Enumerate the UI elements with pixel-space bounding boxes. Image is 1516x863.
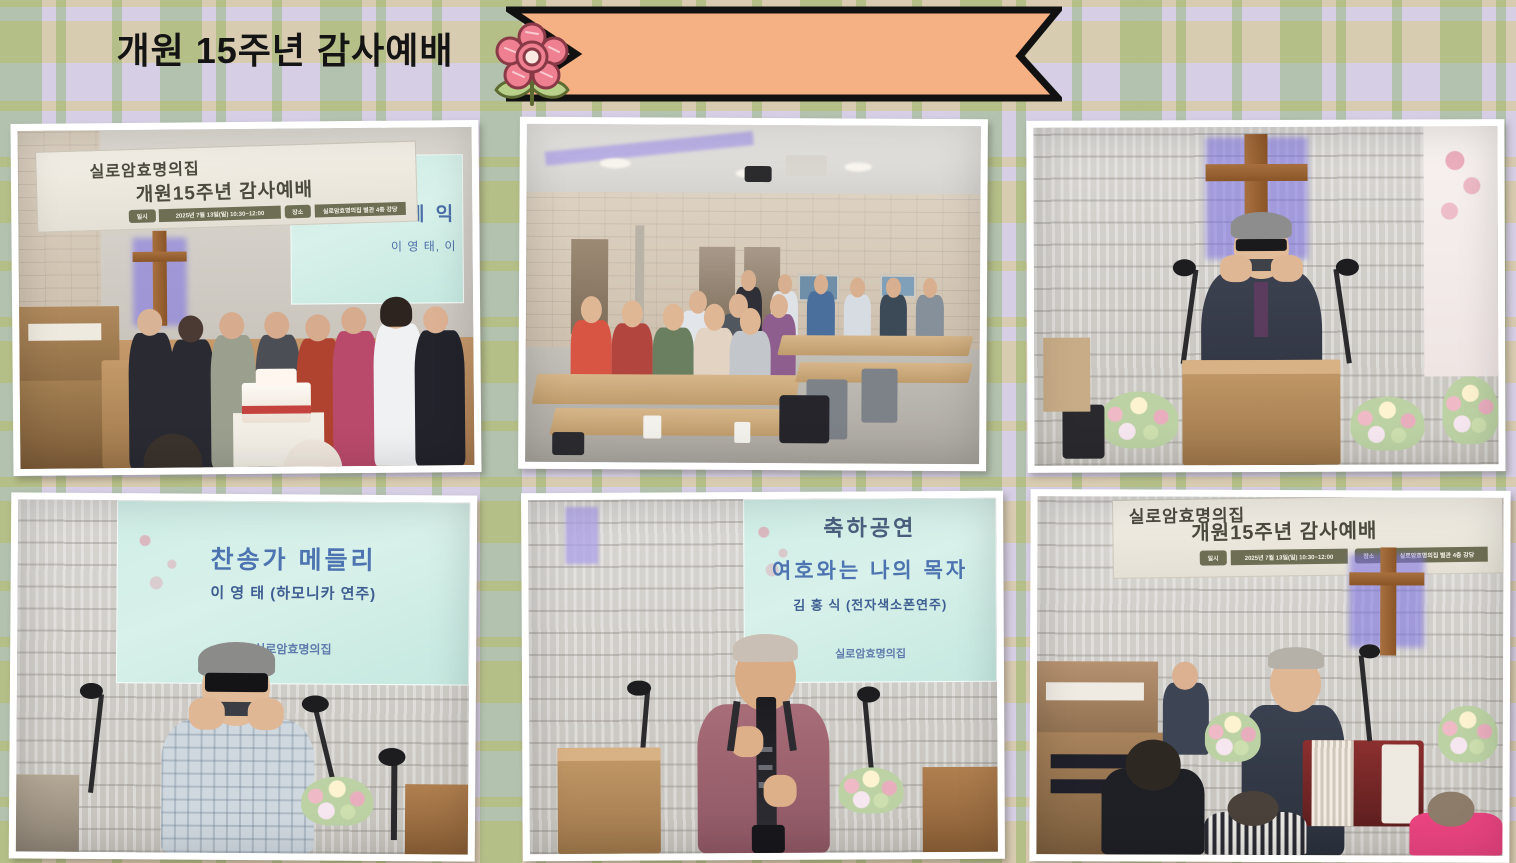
screen-line-2: 김 홍 식 (전자색소폰연주) (745, 593, 996, 613)
flower-icon-svg (486, 18, 578, 110)
collage-page: 개원 15주년 감사예배 (0, 0, 1516, 863)
banner-date-label: 일시 (129, 209, 156, 222)
photo-harmonica-hymn-medley[interactable]: 찬송가 메들리 이 영 태 (하모니카 연주) 실로암효명의집 (9, 492, 478, 861)
ribbon-shape (506, 6, 1062, 102)
page-title: 개원 15주년 감사예배 (0, 0, 556, 96)
banner-place-value: 실로암효명의집 별관 4층 강당 (315, 202, 406, 217)
screen-line-1: 여호와는 나의 목자 (745, 553, 996, 584)
photo-cake-cutting-ceremony[interactable]: 케 익 이 영 태, 이 실로암효명의집 개원15주년 감사예배 일시 2025… (10, 120, 481, 476)
screen-line-2: 이 영 태 (하모니카 연주) (118, 581, 469, 604)
banner-date-value: 2025년 7월 13일(일) 10:30~12:00 (159, 206, 281, 222)
screen-line-0: 축하공연 (744, 510, 995, 543)
projector-screen: 찬송가 메들리 이 영 태 (하모니카 연주) 실로암효명의집 (116, 500, 470, 685)
screen-line-2: 이 영 태, 이 (292, 237, 463, 255)
pulpit (557, 747, 661, 854)
banner-line-2: 개원15주년 감사예배 (1113, 512, 1503, 546)
banner-date-label: 일시 (1199, 550, 1226, 566)
banner-place-label: 장소 (284, 205, 311, 218)
pulpit (1183, 360, 1341, 465)
banner-date-value: 2025년 7월 13일(일) 10:30~12:00 (1230, 548, 1347, 565)
flower-icon (486, 18, 578, 110)
event-banner: 실로암효명의집 개원15주년 감사예배 일시 2025년 7월 13일(일) 1… (1112, 496, 1504, 578)
photo-electronic-saxophone-performance[interactable]: 축하공연 여호와는 나의 목자 김 홍 식 (전자색소폰연주) 실로암효명의집 (521, 491, 1005, 862)
title-ribbon (506, 6, 1062, 102)
event-banner: 실로암효명의집 개원15주년 감사예배 일시 2025년 7월 13일(일) 1… (35, 140, 419, 232)
sunglasses (204, 673, 267, 692)
photo-accordion-performance-in-chapel[interactable]: 실로암효명의집 개원15주년 감사예배 일시 2025년 7월 13일(일) 1… (1029, 489, 1510, 863)
screen-line-1: 찬송가 메들리 (118, 539, 469, 577)
screen-logo: 실로암효명의집 (118, 639, 469, 658)
photo-audience-seated-in-hall[interactable] (518, 117, 988, 471)
photo-harmonica-performance-at-pulpit[interactable] (1026, 119, 1505, 473)
cross-icon (1380, 547, 1397, 654)
